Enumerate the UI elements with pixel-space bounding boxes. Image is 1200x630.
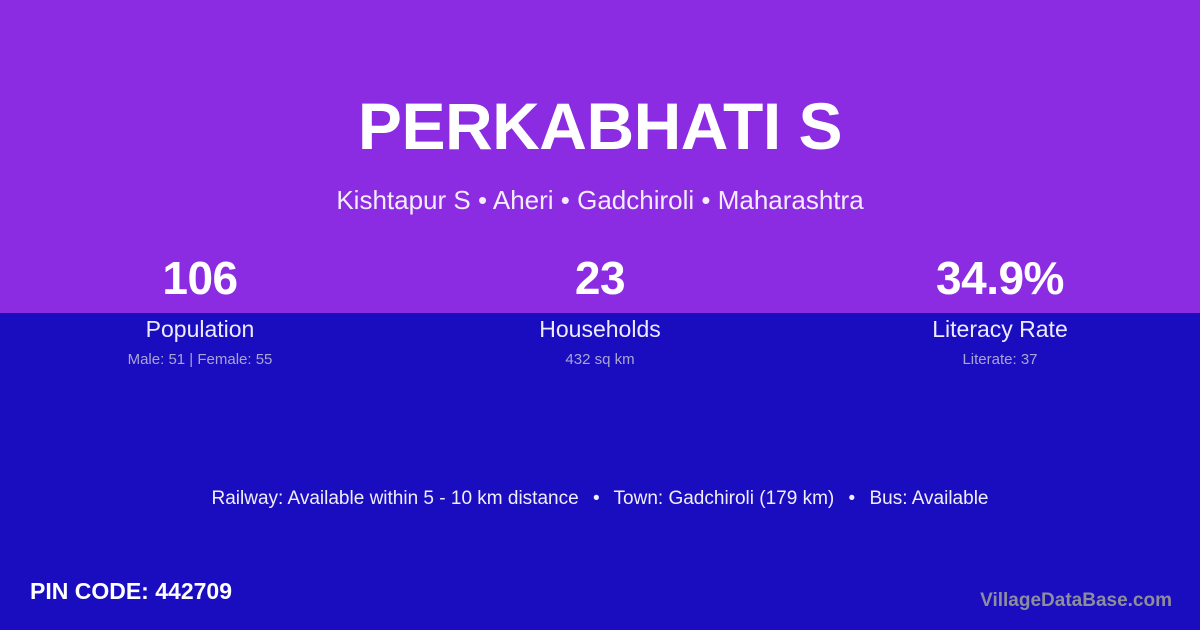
stat-detail: Literate: 37 bbox=[800, 350, 1200, 370]
stat-population: 106 Population Male: 51 | Female: 55 bbox=[0, 248, 400, 383]
amenities-line: Railway: Available within 5 - 10 km dist… bbox=[0, 486, 1200, 512]
stat-label: Literacy Rate bbox=[800, 315, 1200, 343]
stat-value: 34.9% bbox=[800, 248, 1200, 308]
stat-value: 23 bbox=[400, 248, 800, 308]
amenity-separator-icon: • bbox=[840, 486, 865, 512]
stat-label: Households bbox=[400, 315, 800, 343]
stat-label: Population bbox=[0, 315, 400, 343]
stat-value: 106 bbox=[0, 248, 400, 308]
breadcrumb: Kishtapur S • Aheri • Gadchiroli • Mahar… bbox=[0, 183, 1200, 217]
stat-literacy-rate: 34.9% Literacy Rate Literate: 37 bbox=[800, 248, 1200, 383]
amenity-bus: Bus: Available bbox=[869, 488, 988, 509]
site-watermark: VillageDataBase.com bbox=[980, 588, 1172, 614]
stats-row: 106 Population Male: 51 | Female: 55 23 … bbox=[0, 248, 1200, 383]
amenity-railway: Railway: Available within 5 - 10 km dist… bbox=[212, 488, 579, 509]
stat-detail: Male: 51 | Female: 55 bbox=[0, 350, 400, 370]
village-info-card: PERKABHATI S Kishtapur S • Aheri • Gadch… bbox=[0, 0, 1200, 630]
stat-households: 23 Households 432 sq km bbox=[400, 248, 800, 383]
stat-detail: 432 sq km bbox=[400, 350, 800, 370]
pin-code: PIN CODE: 442709 bbox=[30, 576, 232, 606]
amenity-separator-icon: • bbox=[584, 486, 609, 512]
page-title: PERKABHATI S bbox=[0, 86, 1200, 166]
amenity-town: Town: Gadchiroli (179 km) bbox=[614, 488, 835, 509]
